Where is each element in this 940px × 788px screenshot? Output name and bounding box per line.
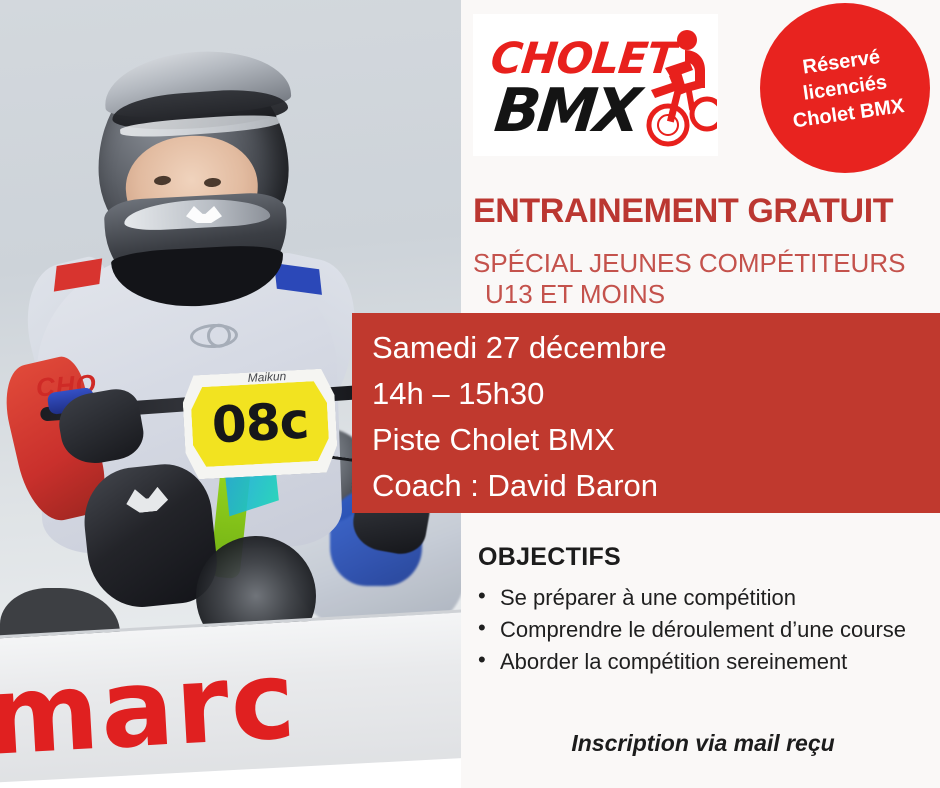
page-subtitle: SPÉCIAL JEUNES COMPÉTITEURS U13 ET MOINS — [473, 248, 939, 310]
poster-root: CHO Maikun 08c marc CHOLET — [0, 0, 940, 788]
reserved-badge-text: Réservé licenciés Cholet BMX — [749, 0, 940, 184]
event-place: Piste Cholet BMX — [372, 417, 940, 463]
subtitle-line-2: U13 ET MOINS — [473, 279, 939, 310]
list-item: Aborder la compétition sereinement — [500, 646, 940, 677]
event-time: 14h – 15h30 — [372, 371, 940, 417]
number-plate-number: 08c — [190, 379, 330, 466]
subtitle-line-1: SPÉCIAL JEUNES COMPÉTITEURS — [473, 248, 905, 278]
event-details-block: Samedi 27 décembre 14h – 15h30 Piste Cho… — [352, 313, 940, 513]
page-title: ENTRAINEMENT GRATUIT — [473, 192, 939, 231]
cholet-bmx-logo: CHOLET BMX — [473, 14, 718, 156]
objectives-list: Se préparer à une compétition Comprendre… — [478, 582, 940, 678]
objectives-title: OBJECTIFS — [478, 543, 621, 572]
registration-note: Inscription via mail reçu — [478, 730, 928, 757]
event-coach: Coach : David Baron — [372, 463, 940, 509]
logo-bmx-text: BMX — [491, 76, 641, 146]
list-item: Se préparer à une compétition — [500, 582, 940, 613]
list-item: Comprendre le déroulement d’une course — [500, 614, 940, 645]
event-date: Samedi 27 décembre — [372, 325, 940, 371]
bmx-rider-icon — [641, 28, 717, 148]
